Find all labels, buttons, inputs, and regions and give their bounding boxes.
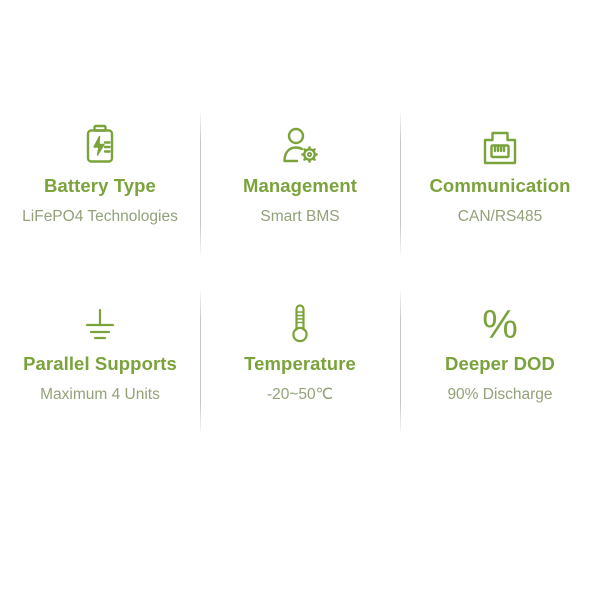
ethernet-port-icon xyxy=(479,121,521,167)
spec-title: Deeper DOD xyxy=(445,352,555,375)
spec-description: 90% Discharge xyxy=(447,385,552,406)
percent-glyph: % xyxy=(482,305,518,345)
spec-description: -20~50℃ xyxy=(267,385,333,406)
spec-cell-communication: Communication CAN/RS485 xyxy=(400,95,600,273)
spec-title: Temperature xyxy=(244,352,356,375)
spec-description: Smart BMS xyxy=(260,207,339,228)
spec-cell-temperature: Temperature -20~50℃ xyxy=(200,273,400,451)
spec-title: Management xyxy=(243,174,357,197)
battery-charging-icon xyxy=(80,121,120,167)
spec-title: Battery Type xyxy=(44,174,156,197)
spec-title: Parallel Supports xyxy=(23,352,177,375)
user-gear-icon xyxy=(279,121,321,167)
spec-grid: Battery Type LiFePO4 Technologies xyxy=(0,95,600,450)
spec-cell-battery-type: Battery Type LiFePO4 Technologies xyxy=(0,95,200,273)
spec-title: Communication xyxy=(429,174,570,197)
thermometer-icon xyxy=(284,299,316,345)
spec-board: Battery Type LiFePO4 Technologies xyxy=(0,0,600,600)
ground-symbol-icon xyxy=(80,299,120,345)
spec-cell-parallel-supports: Parallel Supports Maximum 4 Units xyxy=(0,273,200,451)
spec-description: CAN/RS485 xyxy=(458,207,542,228)
spec-description: Maximum 4 Units xyxy=(40,385,160,406)
percent-icon: % xyxy=(482,299,518,345)
spec-description: LiFePO4 Technologies xyxy=(22,207,178,228)
spec-cell-management: Management Smart BMS xyxy=(200,95,400,273)
spec-cell-deeper-dod: % Deeper DOD 90% Discharge xyxy=(400,273,600,451)
